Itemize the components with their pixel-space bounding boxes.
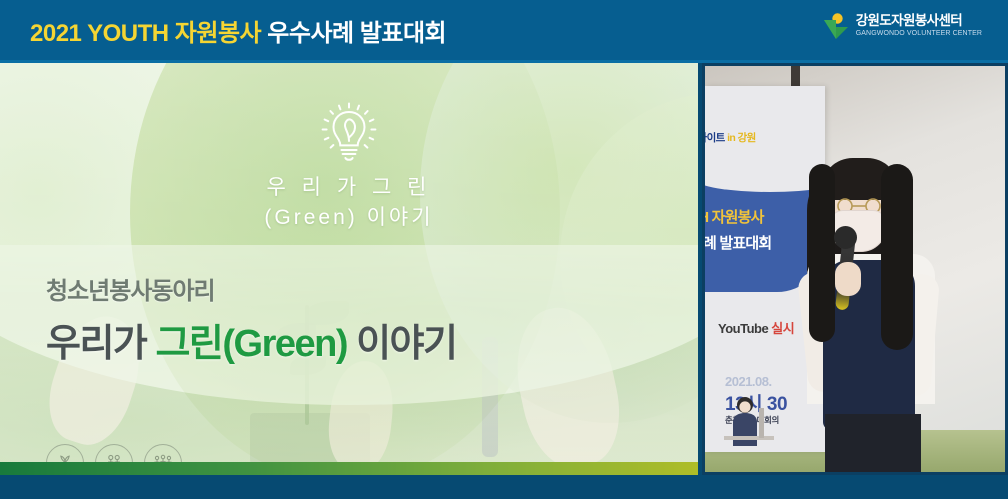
banner-youtube-live: 실시 <box>771 321 794 336</box>
presenter-hair-right <box>881 164 913 350</box>
slide-main-title: 우리가 그린(Green) 이야기 <box>46 312 666 367</box>
page-title: 2021 YOUTH 자원봉사 우수사례 발표대회 <box>30 13 446 48</box>
presenter-video-feed[interactable]: 봉사 이그나이트 in 강원 OUTH 자원봉사 수사례 발표대회 YouTub… <box>705 66 1005 472</box>
banner-tagline-prefix: 봉사 이그나이트 <box>705 132 727 144</box>
brand-name: 강원도자원봉사센터 <box>856 14 962 29</box>
emblem-caption-line-2: (Green) 이야기 <box>264 203 433 233</box>
page-title-highlight: 2021 YOUTH 자원봉사 <box>30 20 261 47</box>
title-part-green: 그린(Green) <box>155 323 347 365</box>
title-part-dark-1: 우리가 <box>46 323 155 365</box>
slide-subtitle: 청소년봉사동아리 <box>46 271 666 306</box>
seated-person-icon <box>719 392 781 446</box>
slide-panel: 우 리 가 그 린 (Green) 이야기 청소년봉사동아리 우리가 그린(Gr… <box>0 63 698 475</box>
page-header: 2021 YOUTH 자원봉사 우수사례 발표대회 강원도자원봉사센터 GANG… <box>0 0 1008 60</box>
presenter-video-frame[interactable]: 봉사 이그나이트 in 강원 OUTH 자원봉사 수사례 발표대회 YouTub… <box>702 63 1008 475</box>
presenter-figure <box>801 142 951 472</box>
lightbulb-leaf-icon <box>313 99 385 171</box>
microphone-head-icon <box>834 226 857 249</box>
presenter-skirt <box>825 414 921 472</box>
page-title-rest: 우수사례 발표대회 <box>267 20 446 47</box>
title-part-dark-2: 이야기 <box>347 323 456 365</box>
presentation-stage: 2021 YOUTH 자원봉사 우수사례 발표대회 강원도자원봉사센터 GANG… <box>0 0 1008 499</box>
banner-date: 2021.08. <box>725 374 772 389</box>
slide-emblem: 우 리 가 그 린 (Green) 이야기 <box>0 99 698 234</box>
banner-youtube-text: YouTube <box>718 321 771 336</box>
brand-subtitle: GANGWONDO VOLUNTEER CENTER <box>856 29 982 39</box>
presenter-hair-left <box>809 164 835 342</box>
banner-tagline-in: in <box>727 132 735 144</box>
banner-tagline-suffix: 강원 <box>735 132 755 144</box>
slide-bottom-accent-bar <box>0 462 698 475</box>
green-chevron-yellow-dot-logo-icon <box>823 12 849 40</box>
brand-logo: 강원도자원봉사센터 GANGWONDO VOLUNTEER CENTER <box>823 12 982 40</box>
presenter-hand <box>835 262 861 296</box>
slide-emblem-caption: 우 리 가 그 린 (Green) 이야기 <box>264 173 433 234</box>
page-footer <box>0 475 1008 499</box>
slide-headline-block: 청소년봉사동아리 우리가 그린(Green) 이야기 <box>46 271 666 367</box>
emblem-caption-line-1: 우 리 가 그 린 <box>264 173 433 203</box>
brand-text-block: 강원도자원봉사센터 GANGWONDO VOLUNTEER CENTER <box>856 14 982 39</box>
